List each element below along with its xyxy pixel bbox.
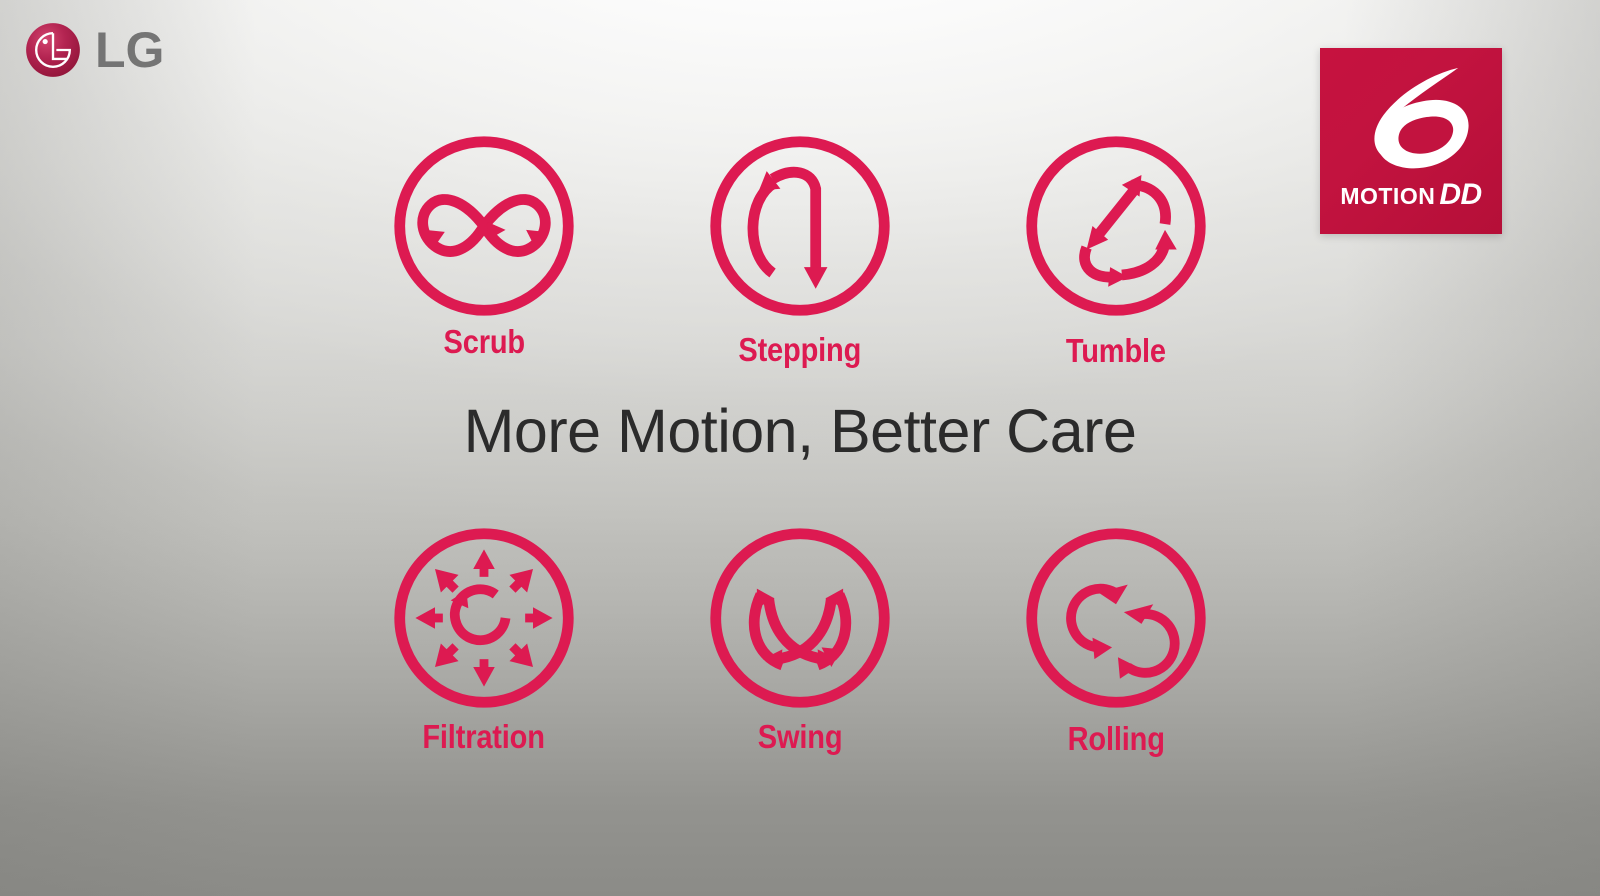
motion-item-swing[interactable]: Swing — [700, 520, 900, 757]
motion-label-rolling: Rolling — [1067, 721, 1164, 757]
badge-caption: MOTION DD — [1340, 178, 1481, 212]
slide-canvas: LG MOTION DD — [0, 0, 1600, 896]
infinity-arrows-icon — [386, 128, 582, 324]
lg-brand-logo: LG — [25, 22, 164, 78]
radiating-arrows-icon — [386, 520, 582, 716]
motion-item-filtration[interactable]: Filtration — [384, 520, 584, 757]
six-motion-dd-badge: MOTION DD — [1320, 48, 1502, 234]
page-title: More Motion, Better Care — [0, 398, 1600, 465]
double-circular-arrows-icon — [1018, 520, 1214, 716]
lg-face-logo-icon — [25, 22, 81, 78]
motion-item-tumble[interactable]: Tumble — [1016, 128, 1216, 369]
six-swirl-icon — [1342, 58, 1480, 180]
motion-label-tumble: Tumble — [1066, 333, 1166, 369]
crossing-swing-arrows-icon — [702, 520, 898, 716]
motion-label-filtration: Filtration — [423, 719, 545, 755]
motion-row-bottom: Filtration — [0, 520, 1600, 757]
motion-label-stepping: Stepping — [739, 332, 862, 368]
badge-motion-text: MOTION — [1340, 183, 1435, 210]
tumble-loop-arrows-icon — [1018, 128, 1214, 324]
motion-item-scrub[interactable]: Scrub — [384, 128, 584, 369]
motion-label-swing: Swing — [758, 719, 843, 755]
badge-dd-text: DD — [1439, 178, 1481, 212]
motion-label-scrub: Scrub — [443, 324, 524, 360]
arc-and-down-arrow-icon — [702, 128, 898, 324]
lg-wordmark: LG — [95, 25, 164, 75]
motion-item-rolling[interactable]: Rolling — [1016, 520, 1216, 757]
motion-item-stepping[interactable]: Stepping — [700, 128, 900, 369]
